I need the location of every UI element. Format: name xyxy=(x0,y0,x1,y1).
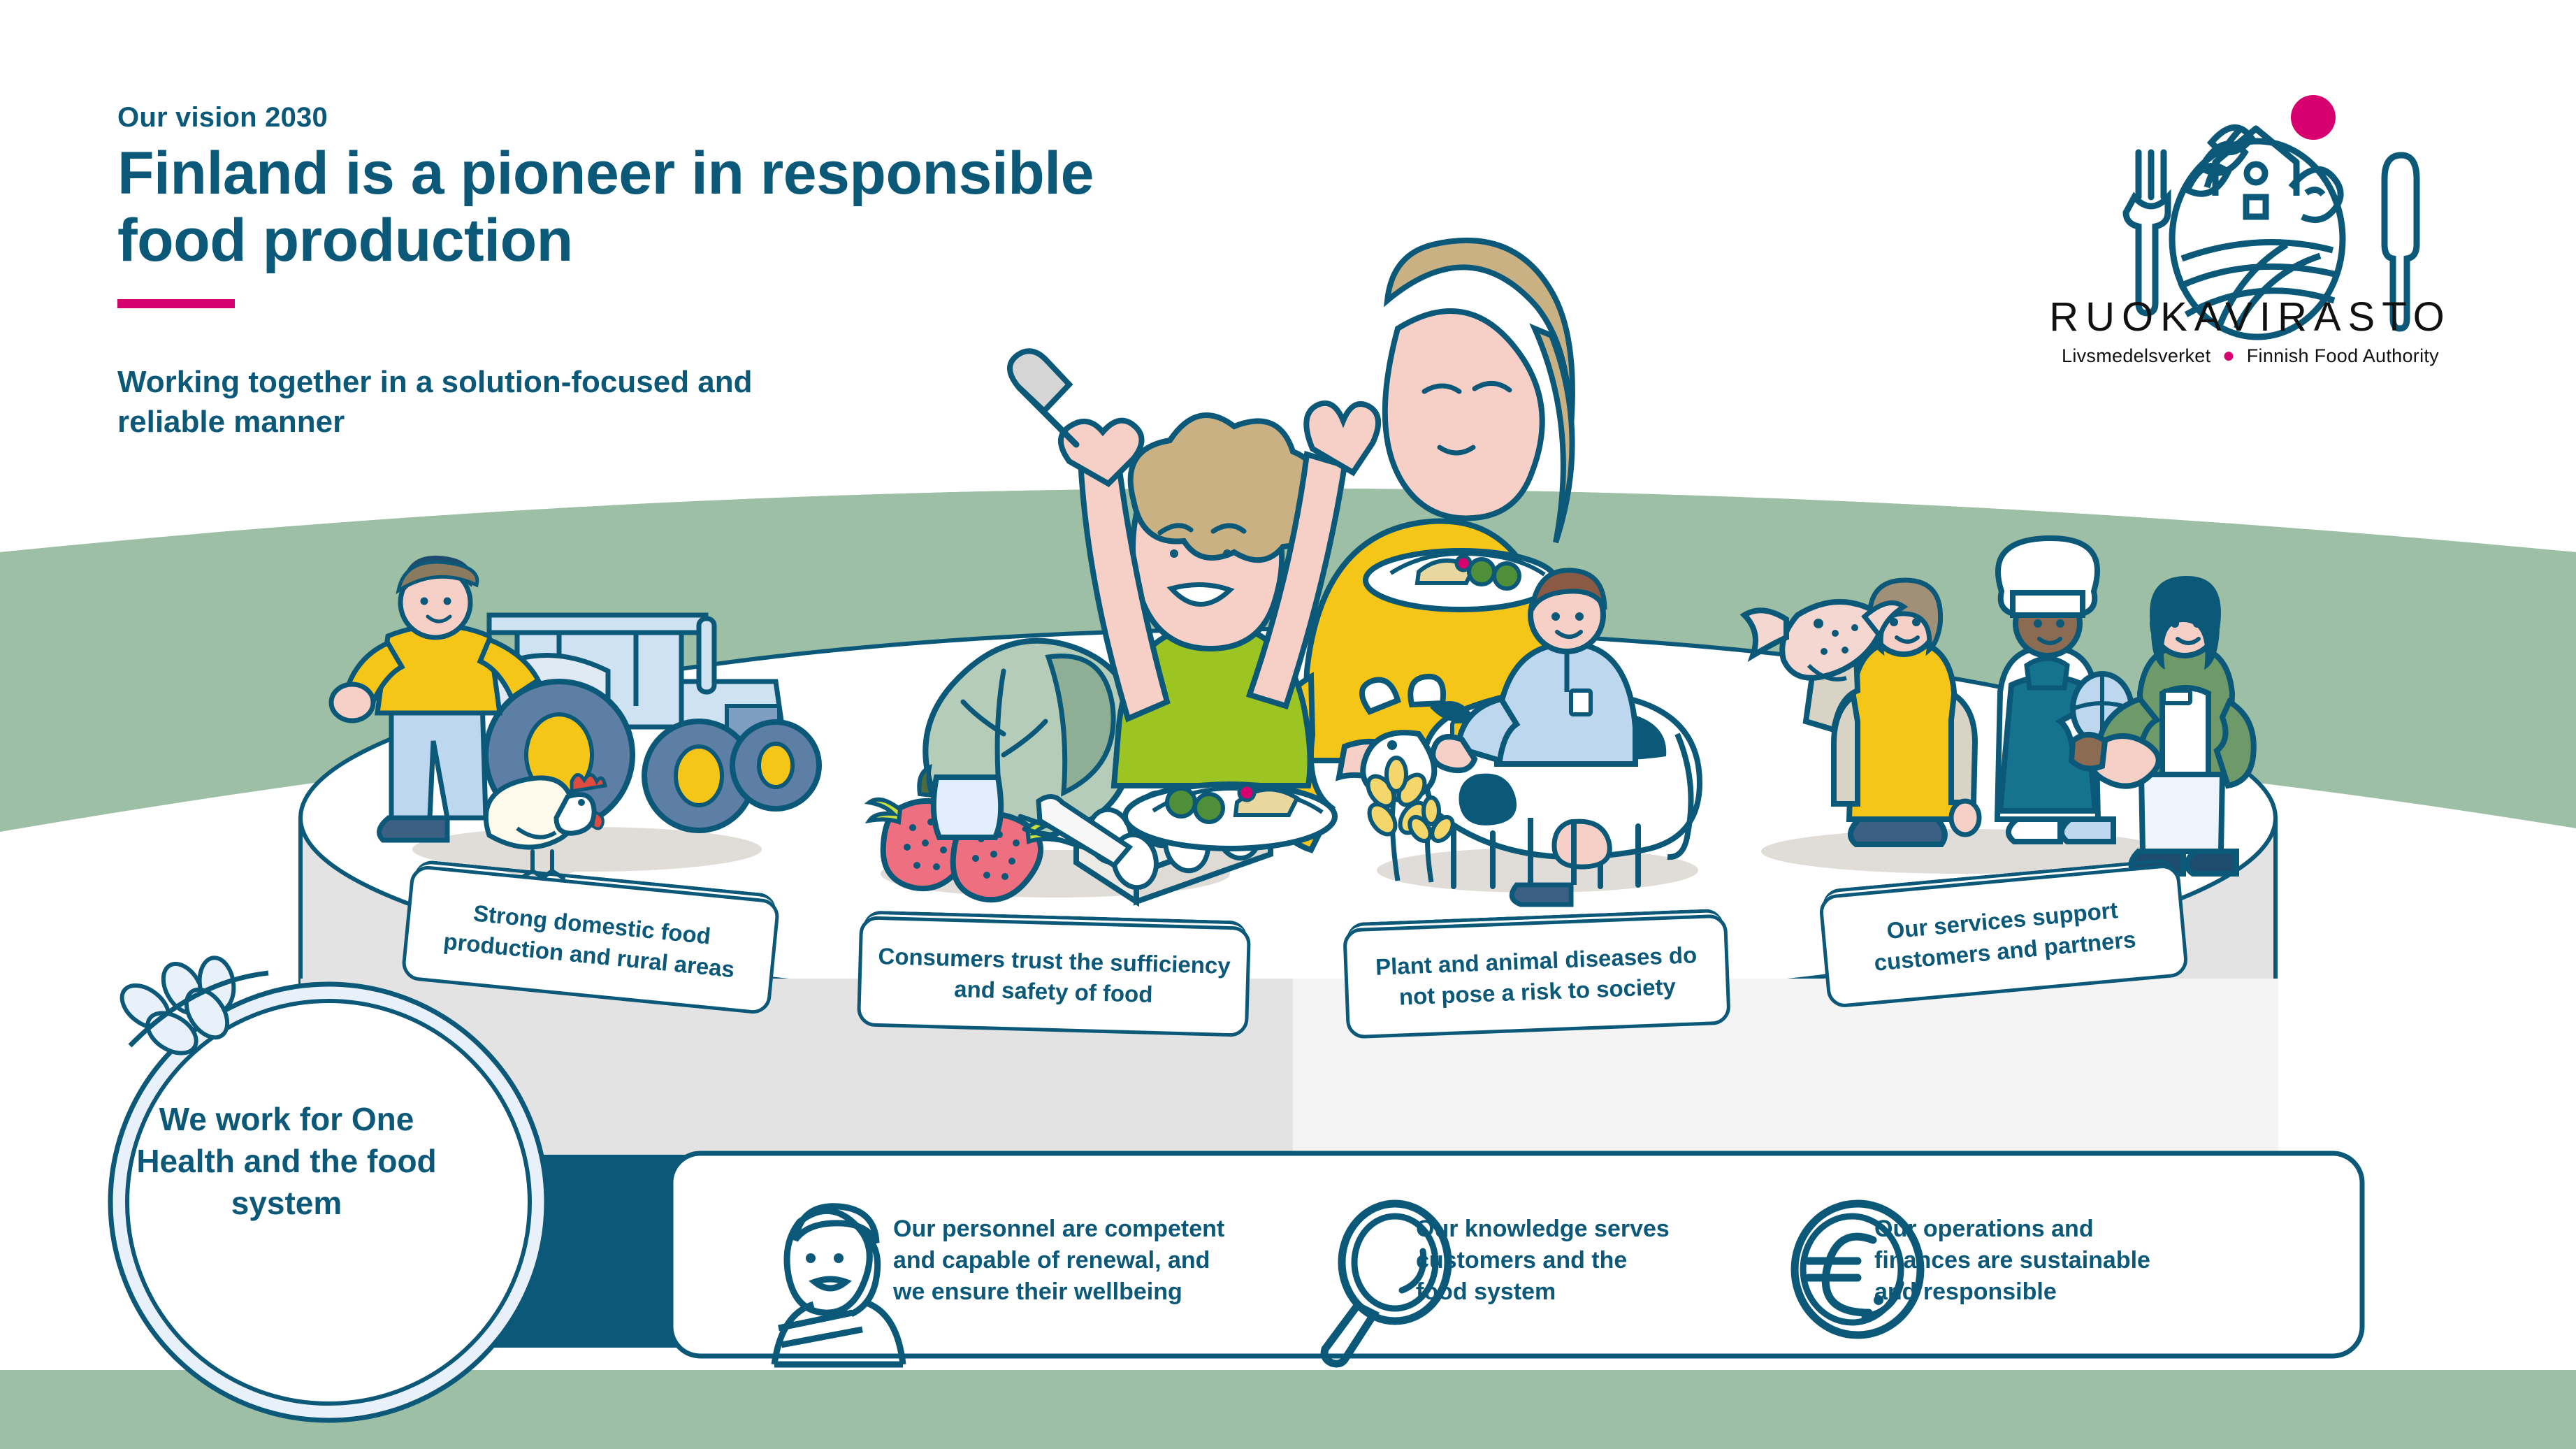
accent-rule xyxy=(117,299,235,308)
bottom-item-knowledge-text: Our knowledge serves customers and the f… xyxy=(1416,1213,1737,1309)
callout-text: Plant and animal diseases do not pose a … xyxy=(1375,940,1698,1014)
callout-text: Strong domestic food production and rura… xyxy=(442,895,739,984)
magenta-dot-icon xyxy=(2291,95,2336,140)
subtitle: Working together in a solution-focused a… xyxy=(117,362,753,442)
bottom-item-personnel-text: Our personnel are competent and capable … xyxy=(893,1213,1271,1309)
callout-plant-animal-diseases[interactable]: Plant and animal diseases do not pose a … xyxy=(1343,914,1731,1039)
page-title: Finland is a pioneer in responsible food… xyxy=(117,140,1094,275)
logo-subtitle-sv: Livsmedelsverket xyxy=(2062,345,2210,366)
bottom-item-finances-text: Our operations and finances are sustaina… xyxy=(1874,1213,2210,1309)
fork-icon xyxy=(2126,152,2168,313)
logo-bullet-icon: ● xyxy=(2216,344,2241,367)
callout-text: Consumers trust the sufficiency and safe… xyxy=(877,941,1231,1011)
callout-consumers-trust[interactable]: Consumers trust the sufficiency and safe… xyxy=(857,916,1251,1037)
one-health-circle-label: We work for One Health and the food syst… xyxy=(105,1099,468,1224)
callout-text: Our services support customers and partn… xyxy=(1870,894,2137,979)
infographic-root: Our vision 2030 Finland is a pioneer in … xyxy=(0,0,2576,1449)
logo-subtitle: Livsmedelsverket ● Finnish Food Authorit… xyxy=(2027,344,2474,368)
logo-wordmark: RUOKAVIRASTO xyxy=(2027,294,2474,340)
logo-subtitle-en: Finnish Food Authority xyxy=(2247,345,2439,366)
kicker: Our vision 2030 xyxy=(117,102,328,134)
